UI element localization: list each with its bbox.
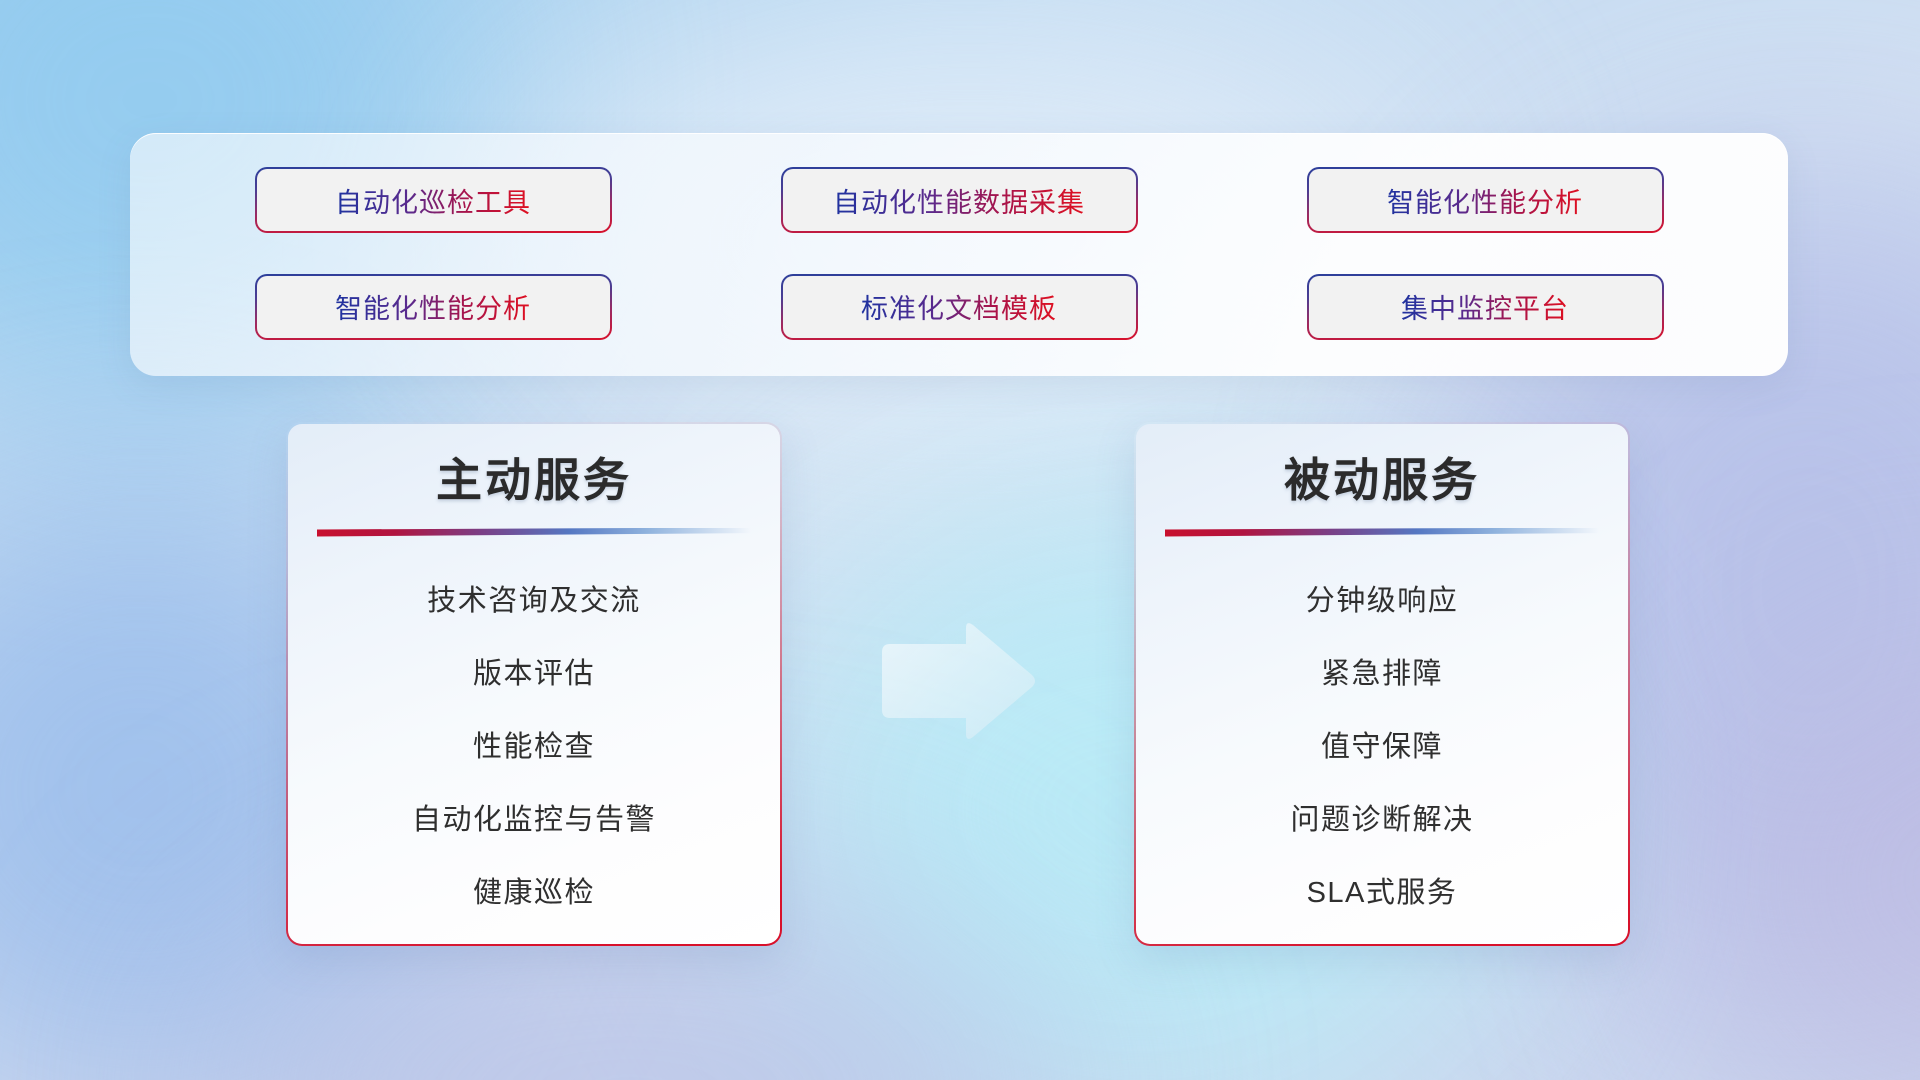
service-card-proactive-title: 主动服务 (436, 452, 632, 510)
capability-pill-2[interactable]: 自动化性能数据采集 (781, 167, 1138, 233)
service-card-reactive-title: 被动服务 (1284, 452, 1480, 510)
service-card-proactive-divider-wrap (288, 528, 780, 537)
capability-pill-1-surface: 自动化巡检工具 (257, 169, 610, 231)
capability-panel: 自动化巡检工具 自动化性能数据采集 智能化性能分析 智能化性能分析 (130, 133, 1788, 376)
arrow-right-icon: 流向：主动服务 → 被动服务 (878, 620, 1038, 742)
slide-canvas: 自动化巡检工具 自动化性能数据采集 智能化性能分析 智能化性能分析 (0, 0, 1920, 1080)
service-card-reactive-surface: 被动服务 分钟级响应 紧急排障 值守保障 问题诊断解决 SLA式服务 (1136, 424, 1628, 944)
service-card-reactive-list: 分钟级响应 紧急排障 值守保障 问题诊断解决 SLA式服务 (1136, 565, 1628, 930)
capability-pill-5[interactable]: 标准化文档模板 (781, 274, 1138, 340)
capability-pill-6-label: 集中监控平台 (1401, 287, 1569, 326)
list-item: 紧急排障 (1321, 638, 1443, 711)
gradient-divider (317, 528, 751, 537)
capability-pill-4[interactable]: 智能化性能分析 (255, 274, 612, 340)
capability-pill-6[interactable]: 集中监控平台 (1307, 274, 1664, 340)
list-item: 自动化监控与告警 (412, 784, 656, 857)
list-item: 健康巡检 (473, 857, 595, 930)
capability-pill-3-label: 智能化性能分析 (1387, 181, 1583, 220)
service-card-reactive-divider-wrap (1136, 528, 1628, 537)
service-card-proactive[interactable]: 主动服务 技术咨询及交流 版本评估 性能检查 自动化监控与告警 健康巡检 (286, 422, 782, 946)
list-item: 分钟级响应 (1306, 565, 1459, 638)
list-item: 版本评估 (473, 638, 595, 711)
list-item: 问题诊断解决 (1290, 784, 1473, 857)
capability-pill-grid: 自动化巡检工具 自动化性能数据采集 智能化性能分析 智能化性能分析 (130, 133, 1788, 376)
capability-pill-6-surface: 集中监控平台 (1309, 276, 1662, 338)
service-card-reactive[interactable]: 被动服务 分钟级响应 紧急排障 值守保障 问题诊断解决 SLA式服务 (1134, 422, 1630, 946)
gradient-divider (1165, 528, 1599, 537)
list-item: 值守保障 (1321, 711, 1443, 784)
capability-pill-2-label: 自动化性能数据采集 (833, 181, 1085, 220)
capability-pill-1-label: 自动化巡检工具 (335, 181, 531, 220)
capability-pill-5-surface: 标准化文档模板 (783, 276, 1136, 338)
service-card-proactive-list: 技术咨询及交流 版本评估 性能检查 自动化监控与告警 健康巡检 (288, 565, 780, 930)
capability-pill-3[interactable]: 智能化性能分析 (1307, 167, 1664, 233)
capability-pill-2-surface: 自动化性能数据采集 (783, 169, 1136, 231)
capability-pill-1[interactable]: 自动化巡检工具 (255, 167, 612, 233)
service-card-proactive-surface: 主动服务 技术咨询及交流 版本评估 性能检查 自动化监控与告警 健康巡检 (288, 424, 780, 944)
list-item: 性能检查 (473, 711, 595, 784)
capability-pill-5-label: 标准化文档模板 (861, 287, 1057, 326)
capability-pill-4-label: 智能化性能分析 (335, 287, 531, 326)
capability-pill-3-surface: 智能化性能分析 (1309, 169, 1662, 231)
capability-pill-4-surface: 智能化性能分析 (257, 276, 610, 338)
list-item: SLA式服务 (1307, 857, 1458, 930)
list-item: 技术咨询及交流 (427, 565, 641, 638)
